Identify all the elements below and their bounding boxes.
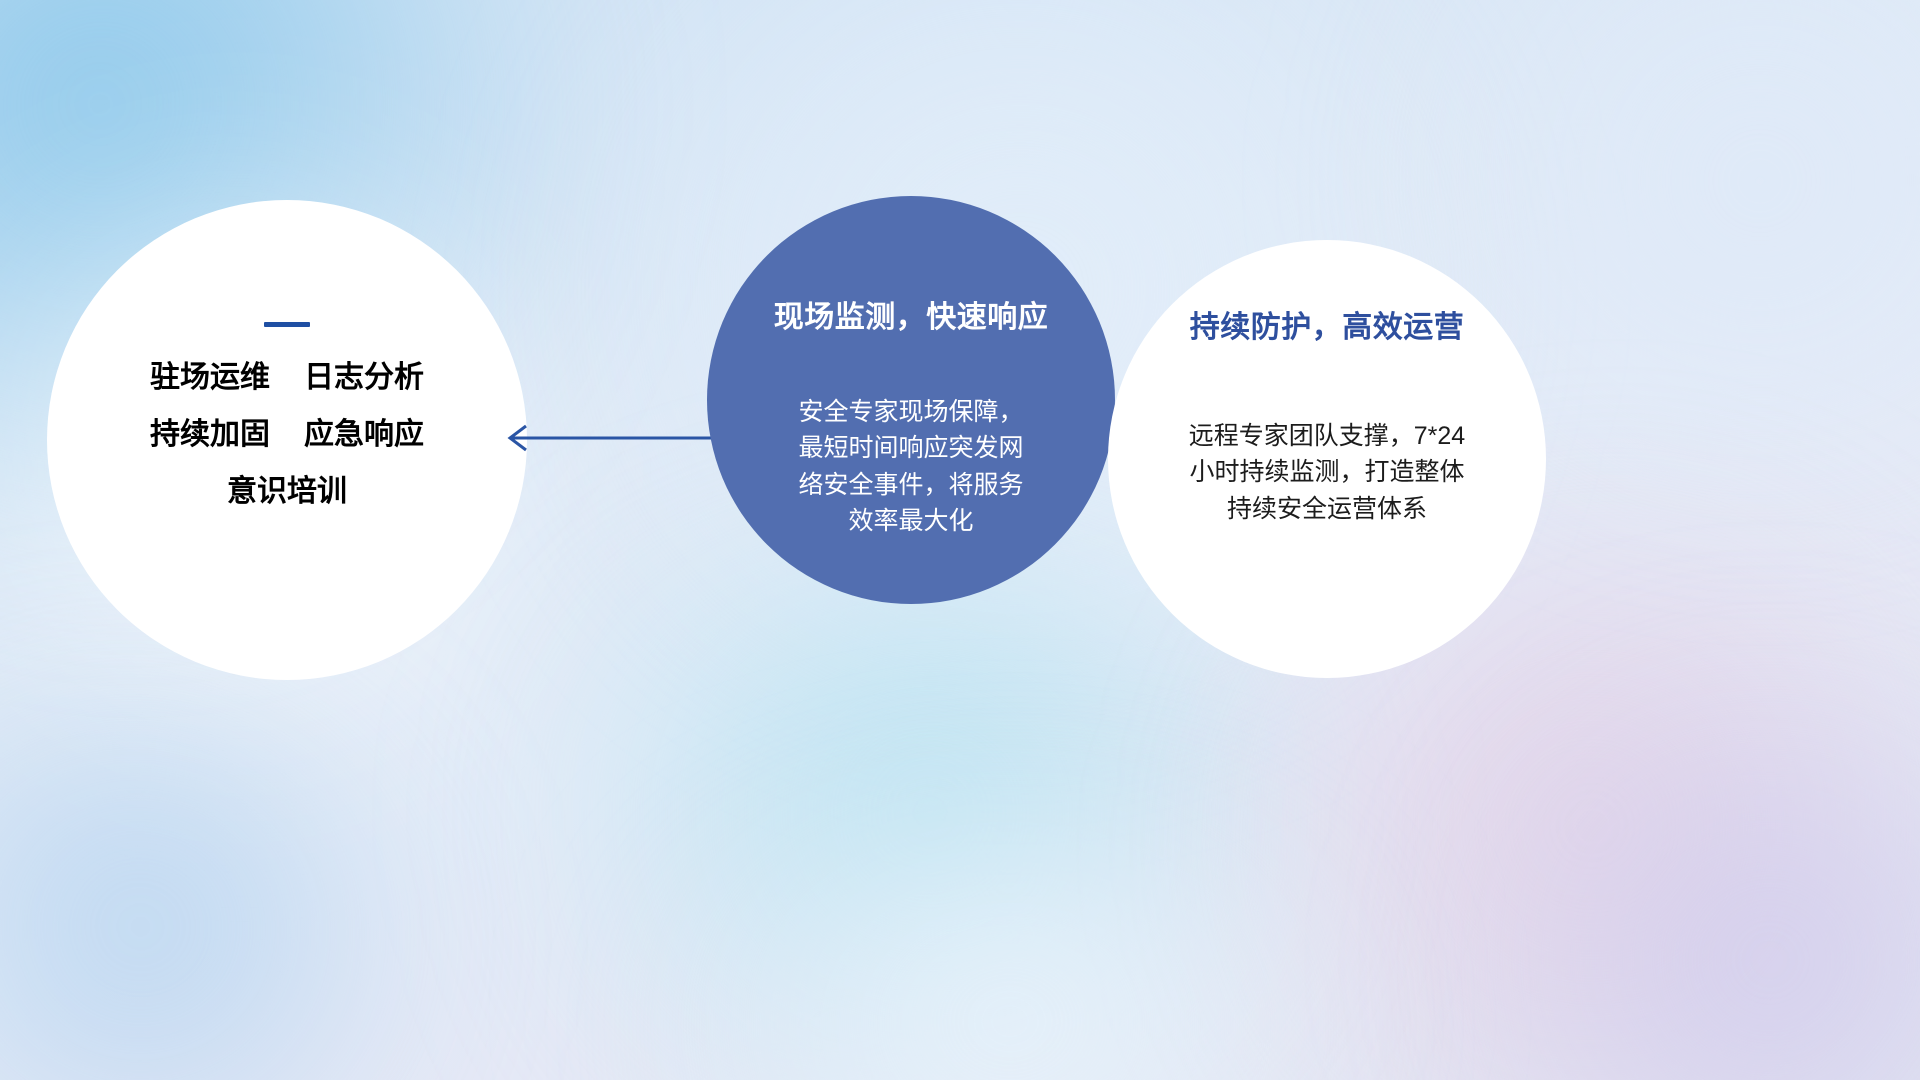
capability-circle-left: 驻场运维 日志分析 持续加固 应急响应 意识培训: [47, 200, 527, 680]
capability-tag: 驻场运维: [150, 363, 270, 393]
accent-divider: [264, 322, 310, 327]
feature-circle-continuous-protection: 持续防护，高效运营 远程专家团队支撑，7*24 小时持续监测，打造整体 持续安全…: [1108, 240, 1546, 678]
circle-body: 安全专家现场保障， 最短时间响应突发网 络安全事件，将服务 效率最大化: [777, 394, 1045, 539]
body-line: 小时持续监测，打造整体: [1157, 454, 1497, 490]
feature-circle-onsite-monitoring: 现场监测，快速响应 安全专家现场保障， 最短时间响应突发网 络安全事件，将服务 …: [707, 196, 1115, 604]
capability-row-3: 意识培训: [227, 477, 347, 507]
body-line: 远程专家团队支撑，7*24: [1157, 418, 1497, 454]
flow-arrow-left-icon: [490, 418, 730, 458]
body-line: 效率最大化: [777, 503, 1045, 539]
circle-body: 远程专家团队支撑，7*24 小时持续监测，打造整体 持续安全运营体系: [1157, 418, 1497, 527]
body-line: 络安全事件，将服务: [777, 467, 1045, 503]
capability-tag: 应急响应: [304, 420, 424, 450]
body-line: 最短时间响应突发网: [777, 430, 1045, 466]
circle-title: 持续防护，高效运营: [1190, 302, 1465, 346]
capability-tag: 日志分析: [304, 363, 424, 393]
capability-row-1: 驻场运维 日志分析: [150, 363, 424, 393]
slide-canvas: 驻场运维 日志分析 持续加固 应急响应 意识培训 现场监测，快速响应 安全专家现…: [0, 0, 1920, 1080]
body-line: 持续安全运营体系: [1157, 491, 1497, 527]
capability-tag: 持续加固: [150, 420, 270, 450]
capability-tag: 意识培训: [227, 477, 347, 507]
capability-row-2: 持续加固 应急响应: [150, 420, 424, 450]
circle-title: 现场监测，快速响应: [774, 292, 1049, 336]
body-line: 安全专家现场保障，: [777, 394, 1045, 430]
